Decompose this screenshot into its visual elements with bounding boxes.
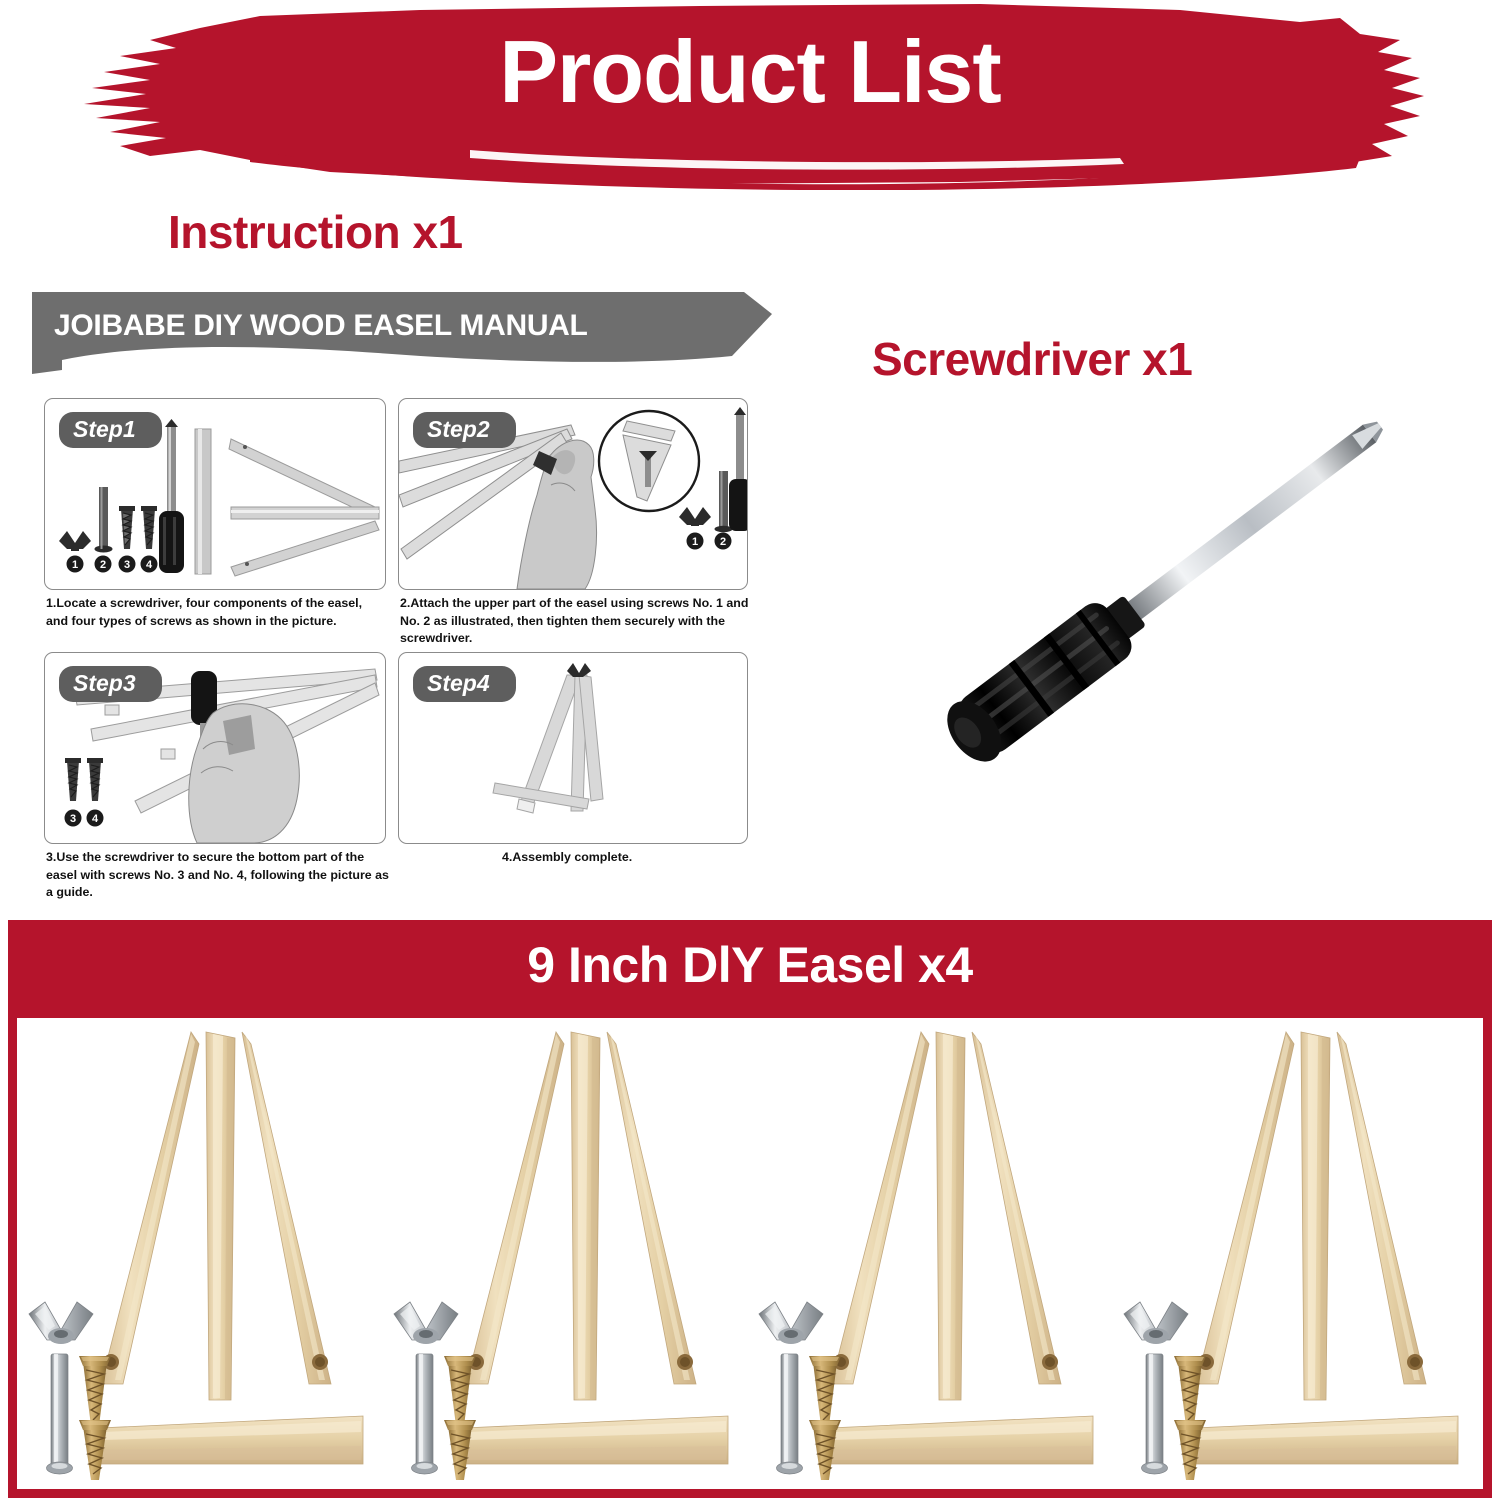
easel-banner: 9 Inch DlY Easel x4: [8, 920, 1492, 1018]
svg-text:3: 3: [70, 813, 76, 825]
left-leg: [1196, 1032, 1294, 1384]
screwdriver-product-image: [818, 388, 1448, 848]
screwdriver-shaft: [1123, 425, 1376, 623]
wing-nut: [394, 1302, 458, 1344]
step1-caption: 1.Locate a screwdriver, four components …: [46, 595, 386, 630]
screwdriver-illustration: [818, 388, 1448, 848]
middle-bar-glyph: [231, 507, 379, 519]
easel-set-2: [388, 1018, 759, 1486]
hand-glyph: [189, 704, 300, 843]
bolt: [47, 1354, 73, 1474]
svg-text:1: 1: [72, 559, 78, 571]
step4-badge: Step4: [413, 666, 516, 702]
step1-badge: Step1: [59, 412, 162, 448]
step4-panel: Step4: [398, 652, 748, 844]
easel-kit-illustration: [23, 1018, 394, 1486]
screwdriver-heading: Screwdriver x1: [872, 332, 1192, 386]
easel-banner-title: 9 Inch DlY Easel x4: [8, 936, 1492, 994]
bottom-rail: [464, 1416, 728, 1464]
easel-section: 9 Inch DlY Easel x4: [8, 920, 1492, 1498]
screw-1: [79, 1356, 111, 1426]
center-bar: [1301, 1032, 1330, 1400]
part-number-circles: 1 2: [687, 533, 732, 550]
bolt: [1142, 1354, 1168, 1474]
part-number-circles: 3 4: [65, 810, 104, 827]
easel-set-1: [23, 1018, 394, 1486]
right-leg: [242, 1032, 331, 1384]
step2-badge: Step2: [413, 412, 516, 448]
screw-1: [809, 1356, 841, 1426]
step3-panel: 3 4 Step3: [44, 652, 386, 844]
step1-panel: 1 2 3 4 Step1: [44, 398, 386, 590]
easel-set-4: [1118, 1018, 1489, 1486]
screw-4-glyph: [141, 506, 157, 549]
bottom-rail: [1194, 1416, 1458, 1464]
easel-kit-illustration: [388, 1018, 759, 1486]
svg-text:1: 1: [692, 536, 698, 548]
bottom-rail: [829, 1416, 1093, 1464]
wing-nut-glyph: [59, 531, 91, 551]
left-leg: [831, 1032, 929, 1384]
center-bar: [936, 1032, 965, 1400]
svg-text:3: 3: [124, 559, 130, 571]
step4-caption: 4.Assembly complete.: [502, 849, 802, 867]
lower-leg-glyph: [231, 521, 379, 576]
bolt: [777, 1354, 803, 1474]
center-bar: [206, 1032, 235, 1400]
step3-caption: 3.Use the screwdriver to secure the bott…: [46, 849, 394, 902]
instruction-heading: Instruction x1: [168, 205, 463, 259]
wing-nut: [759, 1302, 823, 1344]
easel-kit-illustration: [1118, 1018, 1489, 1486]
step2-panel: 1 2 Step2: [398, 398, 748, 590]
bottom-rail: [99, 1416, 363, 1464]
bolt-glyph: [95, 487, 113, 553]
magnifier-circle: [599, 411, 699, 511]
left-leg: [101, 1032, 199, 1384]
svg-text:2: 2: [720, 536, 726, 548]
right-leg: [607, 1032, 696, 1384]
right-leg: [1337, 1032, 1426, 1384]
header-brush-banner: Product List: [0, 0, 1500, 190]
part-number-circles: 1 2 3 4: [67, 556, 158, 573]
wing-nut: [29, 1302, 93, 1344]
easel-kit-illustration: [753, 1018, 1124, 1486]
wing-nut: [1124, 1302, 1188, 1344]
center-bar-glyph: [195, 429, 211, 574]
screw-3-glyph: [119, 506, 135, 549]
right-leg: [972, 1032, 1061, 1384]
manual-banner: JOIBABE DIY WOOD EASEL MANUAL: [32, 292, 772, 384]
instruction-manual-sheet: JOIBABE DIY WOOD EASEL MANUAL: [32, 292, 772, 912]
step3-badge: Step3: [59, 666, 162, 702]
center-bar: [571, 1032, 600, 1400]
upper-leg-glyph: [229, 439, 375, 516]
screw-1: [1174, 1356, 1206, 1426]
screw-1: [444, 1356, 476, 1426]
bolt: [412, 1354, 438, 1474]
easel-parts-frame: [8, 1018, 1492, 1498]
svg-text:2: 2: [100, 559, 106, 571]
easel-set-3: [753, 1018, 1124, 1486]
svg-text:4: 4: [92, 813, 99, 825]
screws-group-glyph: [65, 758, 103, 801]
manual-banner-title: JOIBABE DIY WOOD EASEL MANUAL: [54, 309, 588, 343]
svg-text:4: 4: [146, 559, 153, 571]
page-title: Product List: [0, 26, 1500, 118]
left-leg: [466, 1032, 564, 1384]
screwdriver-glyph: [159, 419, 184, 573]
step2-caption: 2.Attach the upper part of the easel usi…: [400, 595, 750, 648]
